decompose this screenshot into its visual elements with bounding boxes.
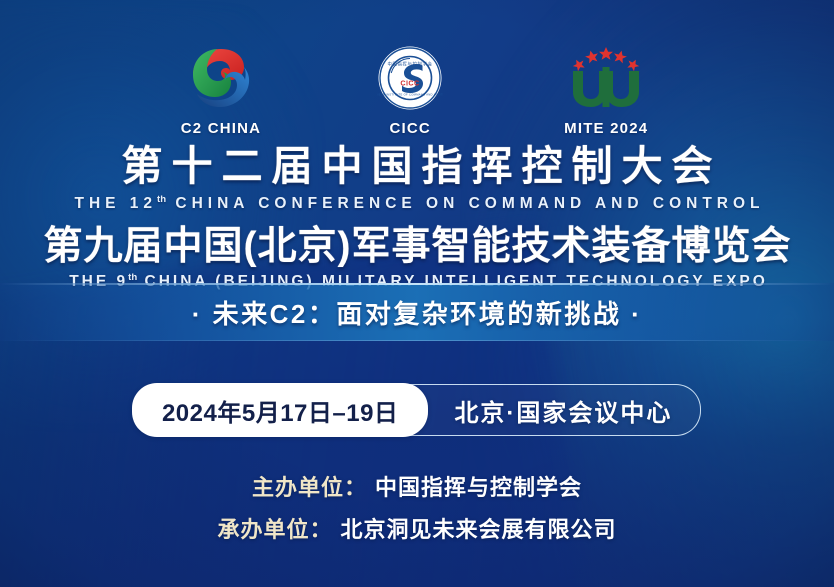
cicc-circular-emblem-icon: 中国指挥与控制学会 CHINESE INSTITUTE OF COMMAND A… [377,44,443,112]
organizer-undertaker-label: 承办单位： [217,512,332,544]
conference-title-en-suffix: CHINA CONFERENCE ON COMMAND AND CONTROL [166,195,764,212]
expo-title-cn: 第九届中国(北京)军事智能技术装备博览会 [0,227,834,266]
slogan-text: · 未来C2：面对复杂环境的新挑战 · [192,294,643,331]
event-info-pill: 2024年5月17日–19日 北京·国家会议中心 [133,384,702,436]
conference-title-en-prefix: THE 12 [74,195,157,212]
c2-china-pinwheel-icon [187,44,255,112]
logo-cicc: 中国指挥与控制学会 CHINESE INSTITUTE OF COMMAND A… [377,44,443,137]
conference-title-cn: 第十二届中国指挥控制大会 [0,146,834,187]
logo-c2-china: C2 CHINA [181,44,261,137]
event-date: 2024年5月17日–19日 [132,383,428,436]
mite-2024-stars-emblem-icon [559,44,653,112]
logo-label-cicc: CICC [389,120,430,137]
organizer-undertaker-value: 北京洞见未来会展有限公司 [341,512,617,544]
title-line-expo: 第九届中国(北京)军事智能技术装备博览会 THE 9th CHINA (BEIJ… [0,227,834,290]
event-info-row: 2024年5月17日–19日 北京·国家会议中心 [0,384,834,436]
conference-title-en-ordinal: th [157,194,166,205]
svg-text:中国指挥与控制学会: 中国指挥与控制学会 [388,61,433,68]
slogan-band: · 未来C2：面对复杂环境的新挑战 · [0,283,834,341]
organizer-undertaker: 承办单位： 北京洞见未来会展有限公司 [217,512,616,544]
logo-mite-2024: MITE 2024 [559,44,653,137]
conference-title-en: THE 12th CHINA CONFERENCE ON COMMAND AND… [0,195,834,212]
organizer-host-label: 主办单位： [252,470,367,502]
organizer-host: 主办单位： 中国指挥与控制学会 [252,470,582,502]
logo-label-c2-china: C2 CHINA [181,120,261,137]
conference-poster: C2 CHINA 中国指挥与控制学会 CHINESE INSTITUTE OF … [0,0,834,587]
svg-text:CHINESE INSTITUTE OF COMMAND A: CHINESE INSTITUTE OF COMMAND AND CONTROL [377,93,443,97]
expo-title-en-ordinal: th [128,272,137,283]
title-block: 第十二届中国指挥控制大会 THE 12th CHINA CONFERENCE O… [0,146,834,289]
organizer-host-value: 中国指挥与控制学会 [375,470,582,502]
logo-row: C2 CHINA 中国指挥与控制学会 CHINESE INSTITUTE OF … [0,44,834,137]
logo-label-mite-2024: MITE 2024 [564,120,648,137]
organizer-block: 主办单位： 中国指挥与控制学会 承办单位： 北京洞见未来会展有限公司 [0,470,834,544]
svg-text:CICC: CICC [401,79,420,88]
title-line-conference: 第十二届中国指挥控制大会 THE 12th CHINA CONFERENCE O… [0,146,834,212]
event-venue: 北京·国家会议中心 [428,385,700,435]
